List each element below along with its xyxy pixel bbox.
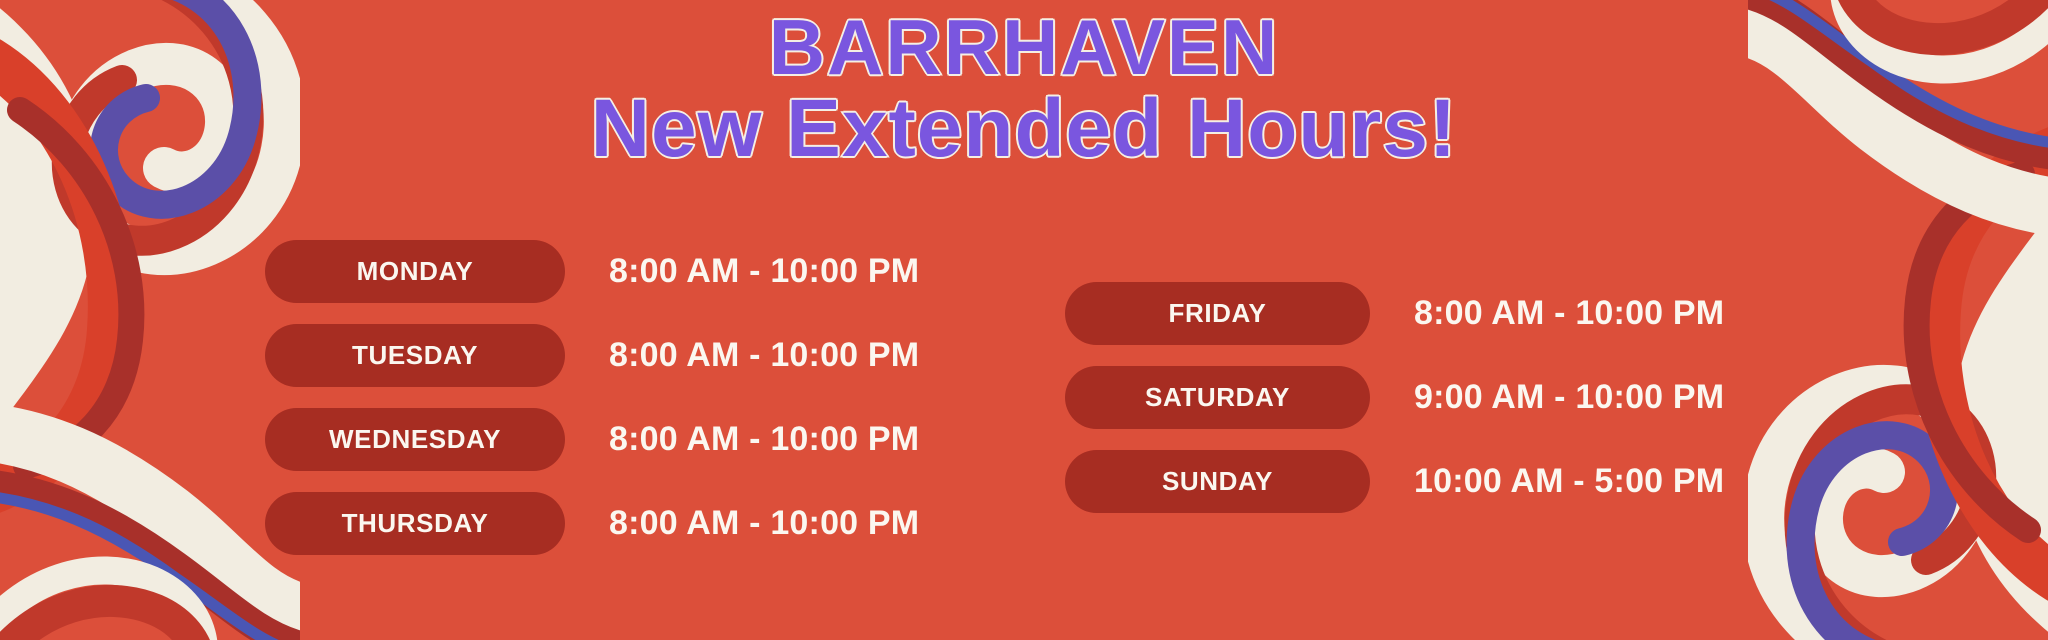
hours-column-right: FRIDAY 8:00 AM - 10:00 PM SATURDAY 9:00 … (1065, 282, 1724, 534)
hours-column-left: MONDAY 8:00 AM - 10:00 PM TUESDAY 8:00 A… (265, 240, 919, 576)
hours-time-monday: 8:00 AM - 10:00 PM (609, 252, 919, 291)
hours-time-sunday: 10:00 AM - 5:00 PM (1414, 462, 1724, 501)
day-pill-monday: MONDAY (265, 240, 565, 303)
hours-time-tuesday: 8:00 AM - 10:00 PM (609, 336, 919, 375)
hours-row: SUNDAY 10:00 AM - 5:00 PM (1065, 450, 1724, 513)
banner-title: BARRHAVEN New Extended Hours! (0, 8, 2048, 170)
hours-row: FRIDAY 8:00 AM - 10:00 PM (1065, 282, 1724, 345)
hours-time-friday: 8:00 AM - 10:00 PM (1414, 294, 1724, 333)
hours-time-wednesday: 8:00 AM - 10:00 PM (609, 420, 919, 459)
hours-row: SATURDAY 9:00 AM - 10:00 PM (1065, 366, 1724, 429)
day-pill-thursday: THURSDAY (265, 492, 565, 555)
title-line-location: BARRHAVEN (0, 8, 2048, 86)
title-line-headline: New Extended Hours! (0, 88, 2048, 170)
hours-row: TUESDAY 8:00 AM - 10:00 PM (265, 324, 919, 387)
hours-row: THURSDAY 8:00 AM - 10:00 PM (265, 492, 919, 555)
hours-time-saturday: 9:00 AM - 10:00 PM (1414, 378, 1724, 417)
day-pill-saturday: SATURDAY (1065, 366, 1370, 429)
hours-banner: BARRHAVEN New Extended Hours! MONDAY 8:0… (0, 0, 2048, 640)
hours-time-thursday: 8:00 AM - 10:00 PM (609, 504, 919, 543)
day-pill-wednesday: WEDNESDAY (265, 408, 565, 471)
hours-section: MONDAY 8:00 AM - 10:00 PM TUESDAY 8:00 A… (0, 240, 2048, 600)
day-pill-tuesday: TUESDAY (265, 324, 565, 387)
day-pill-sunday: SUNDAY (1065, 450, 1370, 513)
day-pill-friday: FRIDAY (1065, 282, 1370, 345)
hours-row: WEDNESDAY 8:00 AM - 10:00 PM (265, 408, 919, 471)
hours-row: MONDAY 8:00 AM - 10:00 PM (265, 240, 919, 303)
